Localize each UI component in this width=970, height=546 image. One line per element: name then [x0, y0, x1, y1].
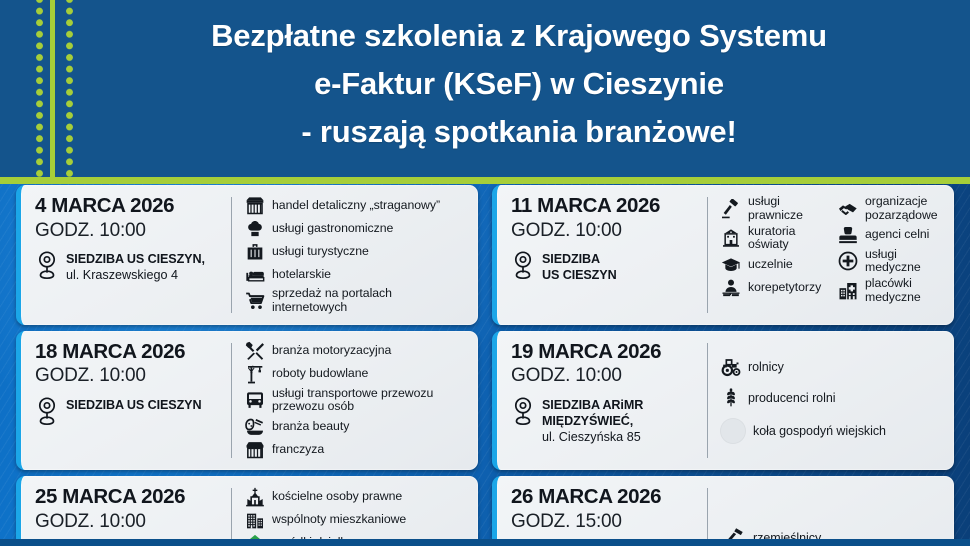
schedule-card[interactable]: 26 MARCA 2026GODZ. 15:00SIEDZIBA CECHURZ… — [492, 476, 954, 539]
storefront-icon — [244, 439, 265, 460]
address-line: SIEDZIBA ARiMR — [542, 397, 643, 413]
card-date: 26 MARCA 2026 — [511, 486, 699, 509]
header-green-band — [0, 177, 970, 184]
card-info: 26 MARCA 2026GODZ. 15:00SIEDZIBA CECHURZ… — [511, 486, 707, 539]
address-line: ul. Kraszewskiego 4 — [66, 267, 205, 283]
location-pin-icon — [35, 396, 59, 426]
card-branch-list: rolnicyproducenci rolnikoła gospodyń wie… — [708, 341, 944, 461]
card-address: SIEDZIBA ARiMRMIĘDZYŚWIEĆ,ul. Cieszyńska… — [542, 395, 643, 445]
schedule-card[interactable]: 18 MARCA 2026GODZ. 10:00SIEDZIBA US CIES… — [16, 331, 478, 471]
branch-item: sprzedaż na portalach internetowych — [244, 287, 468, 315]
card-time: GODZ. 10:00 — [35, 364, 223, 388]
card-date: 19 MARCA 2026 — [511, 341, 699, 364]
page-title: Bezpłatne szkolenia z Krajowego Systemu … — [86, 0, 952, 156]
bus-icon — [244, 390, 265, 411]
branch-item: organizacje pozarządowe — [837, 195, 944, 223]
card-info: 4 MARCA 2026GODZ. 10:00SIEDZIBA US CIESZ… — [35, 195, 231, 315]
branch-item: hotelarskie — [244, 264, 468, 285]
branch-item: ogródki działkowe — [244, 532, 468, 539]
branch-item: kościelne osoby prawne — [244, 486, 468, 507]
poster: Bezpłatne szkolenia z Krajowego Systemu … — [0, 0, 970, 546]
card-address: SIEDZIBA US CIESZYN — [66, 395, 201, 413]
branch-item: koła gospodyń wiejskich — [720, 418, 944, 444]
card-date: 4 MARCA 2026 — [35, 195, 223, 218]
branch-item: producenci rolni — [720, 387, 944, 408]
branch-label: branża beauty — [272, 420, 349, 434]
title-line-2: e-Faktur (KSeF) w Cieszynie — [86, 60, 952, 108]
stamp-icon — [837, 225, 858, 246]
card-branch-list: branża motoryzacyjnaroboty budowlaneusłu… — [232, 341, 468, 461]
branch-item: kuratoria oświaty — [720, 225, 827, 253]
branch-item: branża beauty — [244, 416, 468, 437]
branch-label: rzemieślnicy — [753, 531, 821, 539]
branch-label: handel detaliczny „straganowy” — [272, 199, 440, 213]
handshake-icon — [837, 198, 858, 219]
branch-label: usługi gastronomiczne — [272, 222, 393, 236]
branch-item: usługi medyczne — [837, 248, 944, 276]
branch-column: usługi prawniczekuratoria oświatyuczelni… — [720, 195, 827, 298]
school-building-icon — [720, 228, 741, 249]
branch-column: rolnicyproducenci rolnikoła gospodyń wie… — [720, 341, 944, 461]
branch-item: usługi transportowe przewozu przewozu os… — [244, 387, 468, 415]
branch-item: usługi prawnicze — [720, 195, 827, 223]
card-time: GODZ. 10:00 — [511, 219, 699, 243]
branch-item: franczyza — [244, 439, 468, 460]
market-stall-icon — [244, 195, 265, 216]
card-info: 11 MARCA 2026GODZ. 10:00SIEDZIBAUS CIESZ… — [511, 195, 707, 315]
schedule-card[interactable]: 4 MARCA 2026GODZ. 10:00SIEDZIBA US CIESZ… — [16, 185, 478, 325]
hammer-anvil-icon — [720, 525, 746, 539]
branch-label: usługi prawnicze — [748, 195, 827, 223]
address-line: MIĘDZYŚWIEĆ, — [542, 413, 643, 429]
card-time: GODZ. 10:00 — [35, 510, 223, 534]
branch-item: agenci celni — [837, 225, 944, 246]
card-location: SIEDZIBA ARiMRMIĘDZYŚWIEĆ,ul. Cieszyńska… — [511, 395, 699, 445]
branch-label: agenci celni — [865, 228, 929, 242]
address-line: SIEDZIBA US CIESZYN — [66, 397, 201, 413]
dotted-line-icon — [36, 0, 43, 177]
address-line: ul. Cieszyńska 85 — [542, 429, 643, 445]
schedule-card[interactable]: 11 MARCA 2026GODZ. 10:00SIEDZIBAUS CIESZ… — [492, 185, 954, 325]
crane-icon — [244, 364, 265, 385]
card-branch-list: rzemieślnicy — [708, 486, 944, 539]
branch-item: handel detaliczny „straganowy” — [244, 195, 468, 216]
card-address: SIEDZIBAUS CIESZYN — [542, 249, 617, 283]
card-branch-list: kościelne osoby prawnewspólnoty mieszkan… — [232, 486, 468, 539]
bed-icon — [244, 264, 265, 285]
address-line: US CIESZYN — [542, 267, 617, 283]
blank-circle-icon — [720, 418, 746, 444]
card-date: 25 MARCA 2026 — [35, 486, 223, 509]
tractor-icon — [720, 356, 741, 377]
branch-column: handel detaliczny „straganowy”usługi gas… — [244, 195, 468, 315]
card-info: 25 MARCA 2026GODZ. 10:00SIEDZIBA US CIES… — [35, 486, 231, 539]
shopping-cart-icon — [244, 290, 265, 311]
medical-cross-circle-icon — [837, 251, 858, 272]
branch-item: uczelnie — [720, 254, 827, 275]
branch-item: placówki medyczne — [837, 277, 944, 305]
wheat-icon — [720, 387, 741, 408]
branch-item: wspólnoty mieszkaniowe — [244, 509, 468, 530]
branch-item: rzemieślnicy — [720, 525, 944, 539]
beauty-palette-icon — [244, 416, 265, 437]
branch-label: roboty budowlane — [272, 367, 368, 381]
schedule-card[interactable]: 19 MARCA 2026GODZ. 10:00SIEDZIBA ARiMRMI… — [492, 331, 954, 471]
branch-label: placówki medyczne — [865, 277, 921, 305]
branch-column: kościelne osoby prawnewspólnoty mieszkan… — [244, 486, 468, 539]
address-line: SIEDZIBA US CIESZYN, — [66, 251, 205, 267]
location-pin-icon — [35, 250, 59, 280]
card-date: 18 MARCA 2026 — [35, 341, 223, 364]
branch-label: hotelarskie — [272, 268, 331, 282]
location-pin-icon — [511, 250, 535, 280]
branch-column: branża motoryzacyjnaroboty budowlaneusłu… — [244, 341, 468, 461]
card-branch-list: usługi prawniczekuratoria oświatyuczelni… — [708, 195, 944, 315]
apartment-buildings-icon — [244, 509, 265, 530]
address-line: SIEDZIBA — [542, 251, 617, 267]
card-info: 18 MARCA 2026GODZ. 10:00SIEDZIBA US CIES… — [35, 341, 231, 461]
branch-item: usługi turystyczne — [244, 241, 468, 262]
schedule-card[interactable]: 25 MARCA 2026GODZ. 10:00SIEDZIBA US CIES… — [16, 476, 478, 539]
branch-label: uczelnie — [748, 258, 793, 272]
card-time: GODZ. 15:00 — [511, 510, 699, 534]
vertical-rule-icon — [50, 0, 55, 177]
poster-header: Bezpłatne szkolenia z Krajowego Systemu … — [0, 0, 970, 177]
card-location: SIEDZIBA US CIESZYN,ul. Kraszewskiego 4 — [35, 249, 223, 283]
card-time: GODZ. 10:00 — [35, 219, 223, 243]
branch-item: korepetytorzy — [720, 277, 827, 298]
branch-item: roboty budowlane — [244, 364, 468, 385]
suitcase-icon — [244, 241, 265, 262]
branch-label: ogródki działkowe — [272, 536, 369, 539]
schedule-grid: 4 MARCA 2026GODZ. 10:00SIEDZIBA US CIESZ… — [0, 177, 970, 539]
card-location: SIEDZIBA US CIESZYN — [35, 395, 223, 426]
card-date: 11 MARCA 2026 — [511, 195, 699, 218]
schedule-board: 4 MARCA 2026GODZ. 10:00SIEDZIBA US CIESZ… — [0, 177, 970, 539]
card-info: 19 MARCA 2026GODZ. 10:00SIEDZIBA ARiMRMI… — [511, 341, 707, 461]
title-line-1: Bezpłatne szkolenia z Krajowego Systemu — [86, 12, 952, 60]
title-line-3: - ruszają spotkania branżowe! — [86, 108, 952, 156]
branch-label: wspólnoty mieszkaniowe — [272, 513, 406, 527]
card-location: SIEDZIBAUS CIESZYN — [511, 249, 699, 283]
graduation-cap-icon — [720, 254, 741, 275]
chef-hat-icon — [244, 218, 265, 239]
branch-column: organizacje pozarządoweagenci celniusług… — [837, 195, 944, 305]
branch-label: organizacje pozarządowe — [865, 195, 938, 223]
branch-label: franczyza — [272, 443, 324, 457]
branch-label: producenci rolni — [748, 391, 835, 405]
branch-label: kościelne osoby prawne — [272, 490, 402, 504]
branch-label: usługi medyczne — [865, 248, 944, 276]
branch-item: branża motoryzacyjna — [244, 341, 468, 362]
wrench-screwdriver-icon — [244, 341, 265, 362]
gavel-icon — [720, 198, 741, 219]
card-address: SIEDZIBA US CIESZYN,ul. Kraszewskiego 4 — [66, 249, 205, 283]
card-time: GODZ. 10:00 — [511, 364, 699, 388]
branch-item: usługi gastronomiczne — [244, 218, 468, 239]
branch-label: rolnicy — [748, 360, 784, 374]
green-house-icon — [244, 532, 265, 539]
branch-label: branża motoryzacyjna — [272, 344, 391, 358]
branch-label: usługi turystyczne — [272, 245, 369, 259]
location-pin-icon — [511, 396, 535, 426]
church-icon — [244, 486, 265, 507]
branch-label: korepetytorzy — [748, 281, 821, 295]
dotted-line-icon — [66, 0, 73, 177]
hospital-building-icon — [837, 280, 858, 301]
card-branch-list: handel detaliczny „straganowy”usługi gas… — [232, 195, 468, 315]
branch-label: sprzedaż na portalach internetowych — [272, 287, 392, 315]
branch-column: rzemieślnicy — [720, 486, 944, 539]
person-reading-icon — [720, 277, 741, 298]
branch-label: usługi transportowe przewozu przewozu os… — [272, 387, 433, 415]
branch-label: kuratoria oświaty — [748, 225, 795, 253]
branch-label: koła gospodyń wiejskich — [753, 424, 886, 438]
branch-item: rolnicy — [720, 356, 944, 377]
